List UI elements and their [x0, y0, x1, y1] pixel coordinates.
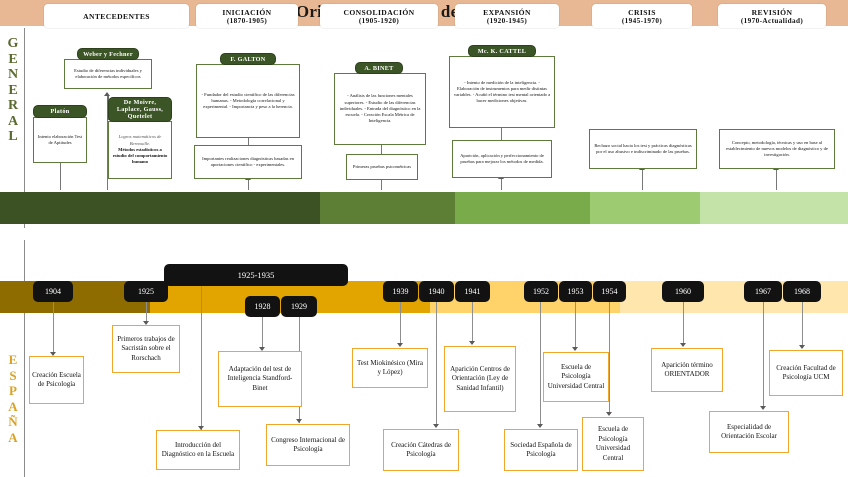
- phase-label-crisis[interactable]: CRISIS (1945-1970): [592, 4, 692, 28]
- rail-label-espana: ESPAÑA: [2, 352, 24, 445]
- phase-label-expansion[interactable]: EXPANSIÓN (1920-1945): [455, 4, 559, 28]
- outcome-consolidacion: Primeras pruebas psicométricas: [346, 154, 418, 180]
- stem-1928: [262, 317, 263, 350]
- phase-segment-crisis: [700, 192, 848, 224]
- node-body-weber-fechner: Estudio de diferencias individuales y el…: [64, 59, 152, 89]
- event-box-congreso-internacional[interactable]: Congreso Internacional de Psicología: [266, 424, 350, 466]
- connector-outcome-ribbon-3: [501, 178, 502, 190]
- event-box-introduccion-diagnostico-escuela[interactable]: Introducción del Diagnóstico en la Escue…: [156, 430, 240, 470]
- node-header-platon: Platón: [33, 105, 87, 118]
- year-chip-1968[interactable]: 1968: [783, 281, 821, 302]
- stem-1939: [400, 302, 401, 346]
- node-header-de-moivre: De Moivre, Laplace, Gauss, Quetelet: [108, 97, 172, 122]
- event-box-sacristan-rorschach[interactable]: Primeros trabajos de Sacristán sobre el …: [112, 325, 180, 373]
- outcome-revision: Concepto, metodología, técnicas y uso en…: [719, 129, 835, 169]
- connector-outcome-ribbon-1: [248, 179, 249, 190]
- stem-1925-1935: [201, 286, 202, 430]
- phase-years-consolidacion: (1905-1920): [359, 17, 399, 25]
- stem-arrow-1940: [433, 424, 439, 428]
- phase-label-revision[interactable]: REVISIÓN (1970-Actualidad): [718, 4, 826, 28]
- event-box-facultad-psicologia-ucm[interactable]: Creación Facultad de Psicología UCM: [769, 350, 843, 396]
- phase-name-iniciacion: INICIACIÓN: [222, 8, 271, 17]
- node-header-weber-fechner: Weber y Fechner: [77, 48, 139, 60]
- event-box-escuela-psicologia-central-1953[interactable]: Escuela de Psicología Universidad Centra…: [543, 352, 609, 402]
- divider-espana: [24, 240, 25, 477]
- node-body-galton: - Fundador del estudio científico de las…: [196, 64, 300, 138]
- connector-outcome-ribbon-4: [642, 169, 643, 190]
- event-box-escuela-psicologia-central-1954[interactable]: Escuela de Psicología Universidad Centra…: [582, 417, 644, 471]
- year-chip-1925[interactable]: 1925: [124, 281, 168, 302]
- node-header-galton: F. GALTON: [220, 53, 276, 65]
- year-chip-1953[interactable]: 1953: [559, 281, 592, 302]
- stem-arrow-1960: [680, 343, 686, 347]
- node-body-platon: Intento elaboración Test de Aptitudes: [33, 117, 87, 163]
- outcome-expansion: Aparición, aplicación y perfeccionamient…: [452, 140, 552, 178]
- phase-label-antecedentes[interactable]: ANTECEDENTES: [44, 4, 189, 28]
- connector-outcome-ribbon-5: [776, 169, 777, 190]
- event-box-aparicion-termino-orientador[interactable]: Aparición término ORIENTADOR: [651, 348, 723, 392]
- event-box-especialidad-orientacion-escolar[interactable]: Especialidad de Orientación Escolar: [709, 411, 789, 453]
- stem-1953: [575, 302, 576, 350]
- event-box-creacion-catedras[interactable]: Creación Cátedras de Psicología: [383, 429, 459, 471]
- phase-label-consolidacion[interactable]: CONSOLIDACIÓN (1905-1920): [320, 4, 438, 28]
- node-body-de-moivre-italic: Logros matemáticos de Bernouille.: [112, 134, 168, 146]
- event-box-sociedad-espanola-psicologia[interactable]: Sociedad Española de Psicología: [504, 429, 578, 471]
- year-chip-1904[interactable]: 1904: [33, 281, 73, 302]
- phase-name-expansion: EXPANSIÓN: [483, 8, 531, 17]
- year-chip-1952[interactable]: 1952: [524, 281, 558, 302]
- stem-1967: [763, 302, 764, 409]
- stem-arrow-1968: [799, 345, 805, 349]
- stem-1941: [472, 302, 473, 344]
- timeline-infographic: Origen y evolución del diagnóstico GENER…: [0, 0, 848, 477]
- stem-1954: [609, 302, 610, 415]
- phase-years-expansion: (1920-1945): [487, 17, 527, 25]
- stem-1960: [683, 302, 684, 346]
- phase-years-crisis: (1945-1970): [622, 17, 662, 25]
- stem-1968: [802, 302, 803, 348]
- stem-arrow-1929: [296, 419, 302, 423]
- node-body-de-moivre: Logros matemáticos de Bernouille. Método…: [108, 121, 172, 179]
- phase-years-iniciacion: (1870-1905): [227, 17, 267, 25]
- year-chip-1941[interactable]: 1941: [455, 281, 490, 302]
- event-box-creacion-escuela-psicologia[interactable]: Creación Escuela de Psicología: [29, 356, 84, 404]
- year-chip-1940[interactable]: 1940: [419, 281, 454, 302]
- year-chip-1928[interactable]: 1928: [245, 296, 280, 317]
- rail-label-general: GENERAL: [2, 36, 24, 145]
- year-chip-1954[interactable]: 1954: [593, 281, 626, 302]
- event-box-test-miokinesico[interactable]: Test Miokinésico (Mira y López): [352, 348, 428, 388]
- stem-arrow-1941: [469, 341, 475, 345]
- year-chip-1929[interactable]: 1929: [281, 296, 317, 317]
- year-chip-1925-1935[interactable]: 1925-1935: [164, 264, 348, 286]
- phase-name-revision: REVISIÓN: [752, 8, 793, 17]
- node-body-cattel: - Intento de medición de la inteligencia…: [449, 56, 555, 128]
- phase-label-iniciacion[interactable]: INICIACIÓN (1870-1905): [196, 4, 298, 28]
- year-chip-1960[interactable]: 1960: [662, 281, 704, 302]
- phase-years-revision: (1970-Actualidad): [741, 17, 803, 25]
- phase-name-crisis: CRISIS: [628, 8, 656, 17]
- year-chip-1939[interactable]: 1939: [383, 281, 418, 302]
- connector-binet-outcome: [381, 145, 382, 154]
- phase-name-consolidacion: CONSOLIDACIÓN: [343, 8, 414, 17]
- stem-1940: [436, 302, 437, 427]
- event-box-centros-orientacion[interactable]: Aparición Centros de Orientación (Ley de…: [444, 346, 516, 412]
- event-box-adaptacion-standford-binet[interactable]: Adaptación del test de Inteligencia Stan…: [218, 351, 302, 407]
- stem-arrow-1967: [760, 406, 766, 410]
- stem-arrow-1939: [397, 343, 403, 347]
- stem-1904: [53, 302, 54, 354]
- arrow-to-weber: [104, 92, 110, 96]
- outcome-iniciacion: Importantes realizaciones diagnósticas b…: [194, 145, 302, 179]
- connector-outcome-ribbon-2: [381, 180, 382, 190]
- stem-arrow-1954: [606, 412, 612, 416]
- year-chip-1967[interactable]: 1967: [744, 281, 782, 302]
- node-body-de-moivre-text: Métodos estadísticos a estudio del compo…: [112, 147, 168, 166]
- node-header-cattel: Mc. K. CATTEL: [468, 45, 536, 57]
- node-header-binet: A. BINET: [355, 62, 403, 74]
- stem-1952: [540, 302, 541, 427]
- phase-ribbon: [0, 192, 848, 224]
- stem-arrow-1953: [572, 347, 578, 351]
- outcome-crisis: Rechazo social hacia los test y práctica…: [589, 129, 697, 169]
- phase-name-antecedentes: ANTECEDENTES: [83, 12, 150, 21]
- connector-platon-ribbon: [60, 163, 61, 190]
- stem-arrow-1952: [537, 424, 543, 428]
- node-body-binet: - Análisis de las funciones mentales sup…: [334, 73, 426, 145]
